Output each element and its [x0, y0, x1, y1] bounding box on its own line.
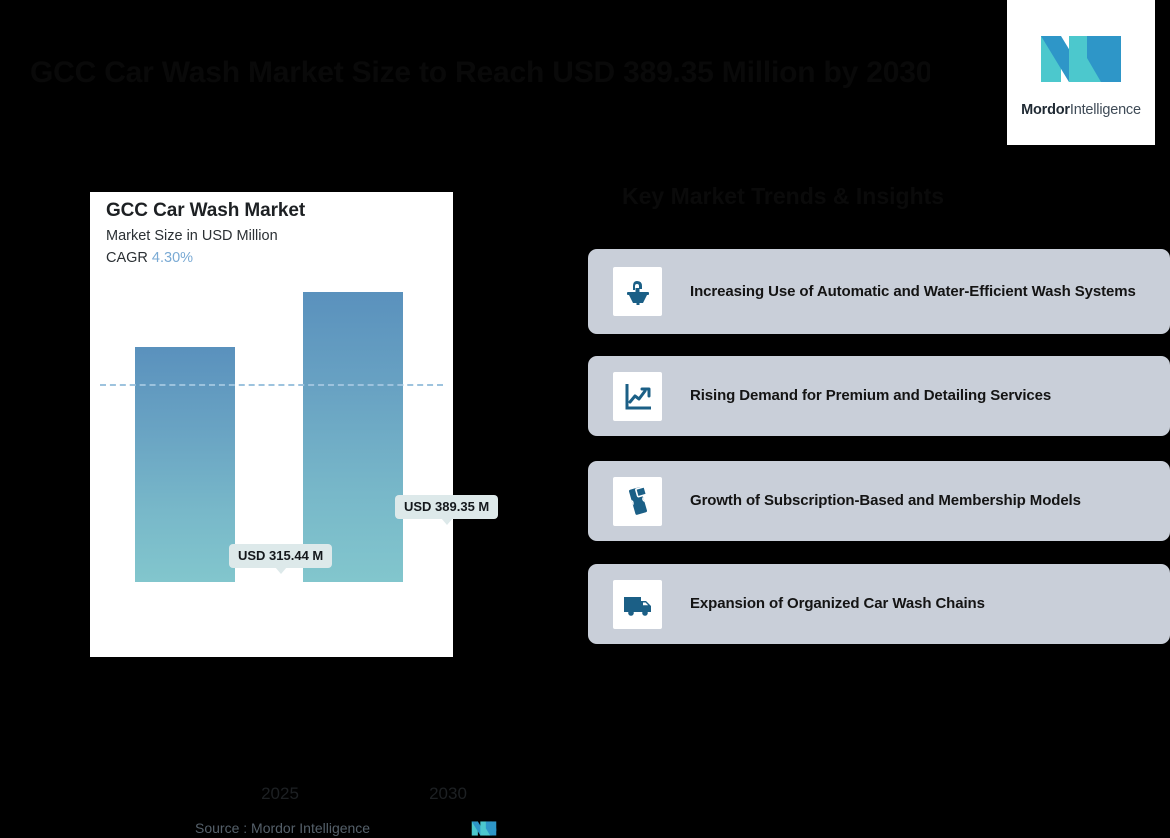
bar-value-label-2025: USD 315.44 M: [229, 544, 332, 568]
trend-card-subscription-models[interactable]: Growth of Subscription-Based and Members…: [588, 461, 1170, 541]
x-axis-label-2030: 2030: [388, 784, 508, 804]
trend-card-organized-chains[interactable]: Expansion of Organized Car Wash Chains: [588, 564, 1170, 644]
trend-card-label: Increasing Use of Automatic and Water-Ef…: [690, 281, 1136, 303]
faucet-sink-icon: [613, 267, 662, 316]
chart-subtitle: Market Size in USD Million: [106, 228, 278, 244]
trend-card-premium-detailing[interactable]: Rising Demand for Premium and Detailing …: [588, 356, 1170, 436]
trend-card-automatic-wash-systems[interactable]: Increasing Use of Automatic and Water-Ef…: [588, 249, 1170, 334]
truck-icon: [613, 580, 662, 629]
market-size-chart-card: GCC Car Wash Market Market Size in USD M…: [90, 192, 453, 657]
brand-wordmark: MordorIntelligence: [1021, 102, 1141, 118]
x-axis-label-2025: 2025: [220, 784, 340, 804]
bar-value-label-2030: USD 389.35 M: [395, 495, 498, 519]
bar-2030: [303, 292, 403, 582]
line-chart-growth-icon: [613, 372, 662, 421]
trend-card-label: Rising Demand for Premium and Detailing …: [690, 385, 1051, 407]
chart-title: GCC Car Wash Market: [106, 200, 305, 222]
cagr-value: 4.30%: [152, 250, 193, 266]
chart-source-text: Source : Mordor Intelligence: [195, 820, 370, 836]
chart-cagr: CAGR4.30%: [106, 250, 193, 266]
trend-card-label: Growth of Subscription-Based and Members…: [690, 490, 1081, 512]
trends-section-heading: Key Market Trends & Insights: [622, 179, 1142, 213]
mordor-intelligence-logo-icon: [1039, 28, 1123, 90]
trend-card-label: Expansion of Organized Car Wash Chains: [690, 593, 985, 615]
brand-logo: MordorIntelligence: [1007, 0, 1155, 145]
brand-wordmark-light: Intelligence: [1070, 102, 1141, 118]
bar-2025: [135, 347, 235, 582]
cagr-label: CAGR: [106, 250, 148, 266]
membership-ticket-icon: [613, 477, 662, 526]
chart-source-logo-icon: [471, 819, 497, 838]
bar-chart-plot-area: [90, 297, 453, 582]
brand-wordmark-bold: Mordor: [1021, 102, 1070, 118]
reference-dashed-line: [100, 384, 443, 386]
page-title: GCC Car Wash Market Size to Reach USD 38…: [30, 50, 930, 96]
